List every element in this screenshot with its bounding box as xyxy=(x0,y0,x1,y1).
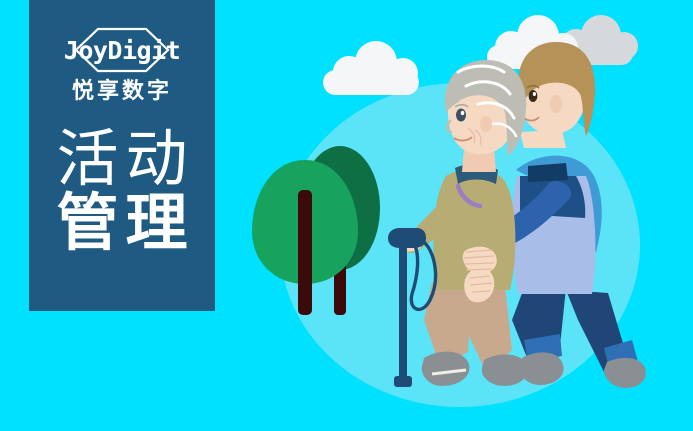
brand-logo-text: JoyDigit xyxy=(64,38,180,63)
page-title-line-1: 活动 xyxy=(49,128,194,192)
man-eye xyxy=(529,90,538,102)
brand-name-cn: 悦享数字 xyxy=(72,80,172,102)
page-title-line-2: 管理 xyxy=(49,192,194,256)
page-title: 活动 管理 xyxy=(29,128,215,256)
man-neck xyxy=(520,130,566,148)
cane-handle xyxy=(388,228,426,248)
cane-tip xyxy=(394,376,412,387)
woman-back-shoe xyxy=(482,354,528,386)
woman-eye xyxy=(456,109,466,122)
poster-canvas: JoyDigit 悦享数字 活动 管理 xyxy=(0,0,693,431)
woman-ear xyxy=(480,116,492,132)
brand-logo: JoyDigit xyxy=(47,27,197,73)
title-panel: JoyDigit 悦享数字 活动 管理 xyxy=(29,0,215,311)
man-ear xyxy=(550,95,562,113)
man-collar xyxy=(528,163,568,182)
